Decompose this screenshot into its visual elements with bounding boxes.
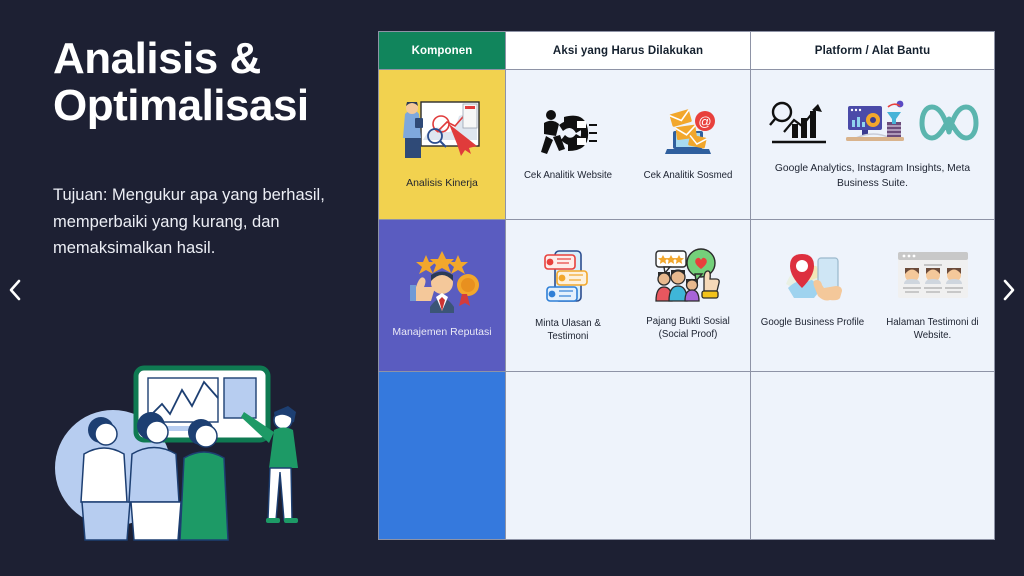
header-cell-platform: Platform / Alat Bantu: [751, 32, 994, 70]
page-title-line1: Analisis &: [53, 36, 353, 83]
header-label-aksi: Aksi yang Harus Dilakukan: [553, 45, 703, 57]
reputation-stars-badge-illustration: [400, 251, 484, 318]
dashboard-monitor-icon: [842, 98, 908, 153]
table-row: [379, 372, 994, 539]
platform-item-halaman-testimoni: Halaman Testimoni di Website.: [881, 250, 985, 342]
platform-label: Halaman Testimoni di Website.: [881, 316, 985, 342]
analysis-optimization-table: Komponen Aksi yang Harus Dilakukan Platf…: [378, 31, 995, 540]
action-label: Cek Analitik Website: [524, 169, 612, 182]
chevron-right-icon: [1002, 278, 1016, 302]
magnet-attraction-icon: [537, 107, 599, 162]
map-pin-phone-icon: [778, 250, 848, 309]
header-label-platform: Platform / Alat Bantu: [815, 45, 930, 57]
actions-cell-row1: Cek Analitik Website @: [506, 70, 751, 220]
platform-label: Google Business Profile: [761, 316, 864, 329]
laptop-email-at-icon: @: [657, 107, 719, 162]
action-label: Pajang Bukti Sosial (Social Proof): [636, 315, 740, 341]
header-label-komponen: Komponen: [412, 45, 473, 57]
actions-cell-empty: [506, 372, 751, 539]
platform-cell-empty: [751, 372, 994, 539]
next-slide-button[interactable]: [994, 272, 1024, 308]
action-item-minta-ulasan-testimoni: Minta Ulasan & Testimoni: [516, 249, 620, 343]
previous-slide-button[interactable]: [0, 272, 30, 308]
actions-cell-row2: Minta Ulasan & Testimoni: [506, 220, 751, 372]
component-label: Analisis Kinerja: [402, 176, 482, 190]
platform-cell-row2: Google Business Profile: [751, 220, 994, 372]
left-panel: Analisis & Optimalisasi Tujuan: Mengukur…: [0, 0, 372, 576]
action-item-cek-analitik-website: Cek Analitik Website: [516, 107, 620, 182]
component-cell-manajemen-reputasi: Manajemen Reputasi: [379, 220, 506, 372]
header-cell-aksi: Aksi yang Harus Dilakukan: [506, 32, 751, 70]
header-cell-komponen: Komponen: [379, 32, 506, 70]
page-title: Analisis & Optimalisasi: [53, 36, 353, 129]
testimonial-webpage-icon: [896, 250, 970, 309]
team-presenting-growth-chart-illustration: [36, 368, 336, 550]
action-item-pajang-bukti-sosial: Pajang Bukti Sosial (Social Proof): [636, 249, 740, 341]
chevron-left-icon: [8, 278, 22, 302]
people-rating-heart-icon: [654, 249, 722, 308]
action-item-cek-analitik-sosmed: @: [636, 107, 740, 182]
phone-chat-reviews-icon: [537, 249, 599, 310]
slide: Analisis & Optimalisasi Tujuan: Mengukur…: [0, 0, 1024, 576]
table-row: Manajemen Reputasi: [379, 220, 994, 372]
platform-cell-row1: Google Analytics, Instagram Insights, Me…: [751, 70, 994, 220]
meta-infinity-logo-icon: [920, 101, 978, 150]
page-title-line2: Optimalisasi: [53, 83, 353, 130]
svg-text:@: @: [698, 114, 711, 129]
component-label: Manajemen Reputasi: [388, 325, 495, 339]
platform-item-google-business-profile: Google Business Profile: [761, 250, 865, 329]
action-label: Cek Analitik Sosmed: [644, 169, 733, 182]
analytics-growth-chart-icon: [768, 98, 830, 153]
table-header-row: Komponen Aksi yang Harus Dilakukan Platf…: [379, 32, 994, 70]
page-subtitle: Tujuan: Mengukur apa yang berhasil, memp…: [53, 182, 343, 262]
performance-analysis-illustration: [397, 98, 487, 169]
component-cell-analisis-kinerja: Analisis Kinerja: [379, 70, 506, 220]
component-cell-empty: [379, 372, 506, 539]
platform-caption: Google Analytics, Instagram Insights, Me…: [751, 162, 994, 191]
action-label: Minta Ulasan & Testimoni: [516, 317, 620, 343]
table-row: Analisis Kinerja: [379, 70, 994, 220]
